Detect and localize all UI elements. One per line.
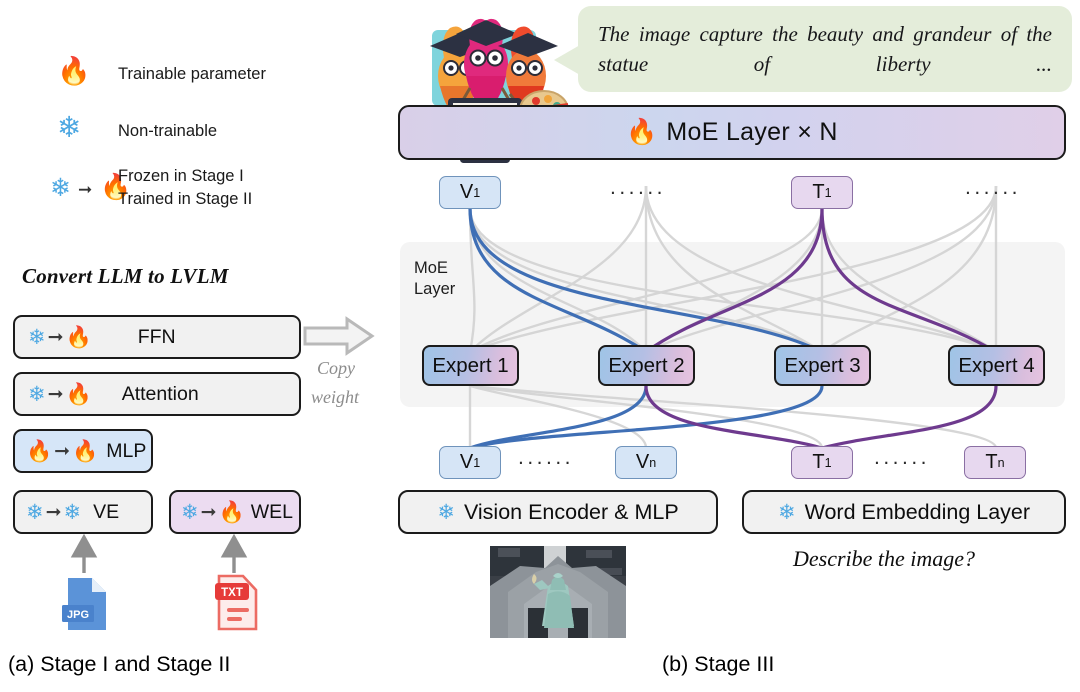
left-panel-title: Convert LLM to LVLM [22, 264, 229, 289]
snowflake-icon: ❄ [181, 502, 199, 523]
top-vision-ellipsis: ...... [610, 176, 666, 200]
snowflake-icon: ❄ [64, 502, 82, 523]
caption-right: (b) Stage III [662, 652, 774, 677]
snowflake-icon: ❄ [28, 384, 46, 405]
legend-flame-icon: 🔥 [57, 58, 91, 85]
expert-2-box[interactable]: Expert 2 [598, 345, 695, 386]
input-image-statue-of-liberty [490, 546, 626, 638]
output-speech-bubble: The image capture the beauty and grandeu… [578, 6, 1072, 92]
flame-icon: 🔥 [219, 502, 245, 523]
mlp-label: MLP [106, 440, 146, 463]
token-v1-top[interactable]: V1 [439, 176, 501, 209]
legend-label-trainable: Trainable parameter [118, 64, 266, 84]
copy-weight-line2: weight [311, 387, 359, 408]
token-v1-top-sub: 1 [473, 186, 480, 200]
expert-3-box[interactable]: Expert 3 [774, 345, 871, 386]
svg-text:JPG: JPG [67, 609, 89, 621]
ve-box[interactable]: ❄ ➞ ❄ VE [13, 490, 153, 534]
ve-label: VE [93, 501, 119, 524]
bottom-vision-ellipsis: ...... [518, 446, 574, 470]
svg-text:TXT: TXT [221, 587, 243, 599]
token-v1-bottom-sub: 1 [473, 456, 480, 470]
legend-arrow-icon: ➞ [78, 180, 92, 200]
flame-icon: 🔥 [26, 441, 52, 462]
copy-weight-arrow-icon [303, 316, 375, 356]
token-t1-top-base: T [812, 181, 824, 204]
arrow-icon: ➞ [48, 326, 64, 349]
moe-layer-region-label-line2: Layer [414, 279, 455, 299]
token-tn-bottom-base: T [985, 451, 997, 474]
legend-label-nontrainable: Non-trainable [118, 121, 217, 141]
wel-box[interactable]: ❄ ➞ 🔥 WEL [169, 490, 301, 534]
moe-layer-region-label-line1: MoE [414, 258, 448, 278]
caption-left: (a) Stage I and Stage II [8, 652, 230, 677]
moe-layer-bar-label: MoE Layer × N [666, 118, 837, 147]
flame-icon: 🔥 [66, 384, 92, 405]
expert-1-box[interactable]: Expert 1 [422, 345, 519, 386]
snowflake-icon: ❄ [26, 502, 44, 523]
token-t1-bottom-sub: 1 [825, 456, 832, 470]
attention-box[interactable]: ❄ ➞ 🔥 Attention [13, 372, 301, 416]
legend-snowflake-icon: ❄ [57, 114, 81, 143]
token-vn-bottom-base: V [636, 451, 649, 474]
user-prompt-text: Describe the image? [793, 546, 975, 572]
token-t1-top[interactable]: T1 [791, 176, 853, 209]
arrow-icon: ➞ [54, 440, 70, 463]
copy-weight-line1: Copy [317, 358, 355, 379]
token-tn-bottom[interactable]: Tn [964, 446, 1026, 479]
token-tn-bottom-sub: n [998, 456, 1005, 470]
wel-label: WEL [251, 501, 293, 524]
vision-encoder-box[interactable]: ❄ Vision Encoder & MLP [398, 490, 718, 534]
token-v1-bottom[interactable]: V1 [439, 446, 501, 479]
top-text-ellipsis: ...... [965, 176, 1021, 200]
token-vn-bottom-sub: n [649, 456, 656, 470]
snowflake-icon: ❄ [437, 502, 455, 523]
attention-label: Attention [122, 383, 199, 406]
speech-bubble-text: The image capture the beauty and grandeu… [598, 19, 1052, 79]
word-embedding-label: Word Embedding Layer [805, 500, 1030, 525]
flame-icon: 🔥 [626, 120, 657, 145]
token-vn-bottom[interactable]: Vn [615, 446, 677, 479]
ffn-label: FFN [138, 326, 176, 349]
moe-layer-bar[interactable]: 🔥 MoE Layer × N [398, 105, 1066, 160]
speech-bubble-tail [554, 45, 580, 75]
expert-4-box[interactable]: Expert 4 [948, 345, 1045, 386]
snowflake-icon: ❄ [778, 502, 796, 523]
token-v1-bottom-base: V [460, 451, 473, 474]
word-embedding-box[interactable]: ❄ Word Embedding Layer [742, 490, 1066, 534]
arrow-icon: ➞ [48, 383, 64, 406]
token-t1-bottom[interactable]: T1 [791, 446, 853, 479]
jpg-file-icon: JPG [60, 575, 112, 635]
legend-label-trained-stage2: Trained in Stage II [118, 189, 252, 209]
flame-icon: 🔥 [72, 441, 98, 462]
txt-file-icon: TXT [210, 572, 262, 634]
snowflake-icon: ❄ [28, 327, 46, 348]
mlp-box[interactable]: 🔥 ➞ 🔥 MLP [13, 429, 153, 473]
vision-encoder-label: Vision Encoder & MLP [464, 500, 679, 525]
token-t1-bottom-base: T [812, 451, 824, 474]
arrow-icon: ➞ [201, 501, 217, 524]
ffn-box[interactable]: ❄ ➞ 🔥 FFN [13, 315, 301, 359]
arrow-icon: ➞ [46, 501, 62, 524]
token-v1-top-base: V [460, 181, 473, 204]
legend-label-frozen-stage1: Frozen in Stage I [118, 166, 244, 186]
legend-snowflake-to-flame-snowflake-icon: ❄ [50, 176, 71, 201]
flame-icon: 🔥 [66, 327, 92, 348]
token-t1-top-sub: 1 [825, 186, 832, 200]
bottom-text-ellipsis: ...... [874, 446, 930, 470]
